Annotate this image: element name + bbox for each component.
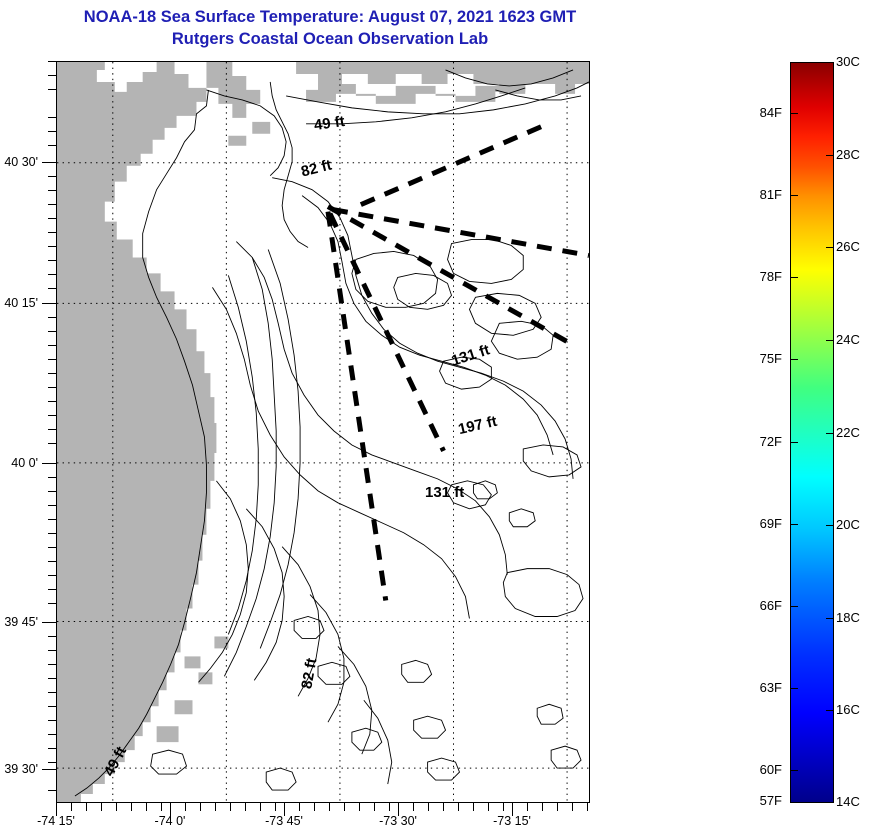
y-tick-text: 39 45' — [4, 615, 38, 629]
page-title: NOAA-18 Sea Surface Temperature: August … — [0, 6, 660, 50]
c-tick-text: 16C — [836, 702, 860, 717]
colorbar-c-label: 26C — [836, 239, 860, 254]
transect-s-east — [330, 214, 444, 451]
c-tick-text: 20C — [836, 517, 860, 532]
colorbar-f-label: 75F — [742, 351, 782, 366]
f-tick-text: 63F — [760, 680, 782, 695]
x-tick-label: -73 15' — [462, 814, 562, 828]
y-tick-label: 39 30' — [0, 762, 38, 776]
f-tick-text: 75F — [760, 351, 782, 366]
colorbar-f-label: 57F — [742, 793, 782, 808]
title-line-2: Rutgers Coastal Ocean Observation Lab — [0, 28, 660, 50]
f-tick-text: 69F — [760, 516, 782, 531]
y-tick-label: 40 15' — [0, 296, 38, 310]
y-tick-text: 40 0' — [11, 456, 38, 470]
x-tick-label: -74 15' — [6, 814, 106, 828]
colorbar-f-label: 63F — [742, 680, 782, 695]
x-tick-text: -74 0' — [155, 814, 186, 828]
f-tick-text: 57F — [760, 793, 782, 808]
y-tick-label: 40 0' — [0, 456, 38, 470]
map-plot-area[interactable]: 49 ft 82 ft 131 ft 197 ft 131 ft 82 ft 4… — [56, 61, 590, 803]
colorbar-f-label: 69F — [742, 516, 782, 531]
colorbar-c-label: 20C — [836, 517, 860, 532]
y-tick-text: 40 30' — [4, 155, 38, 169]
colorbar-f-label: 78F — [742, 269, 782, 284]
colorbar-c-label: 28C — [836, 147, 860, 162]
f-tick-text: 84F — [760, 105, 782, 120]
c-tick-text: 22C — [836, 425, 860, 440]
transect-ne-mid — [333, 210, 589, 256]
x-tick-label: -73 45' — [234, 814, 334, 828]
colorbar-c-label: 16C — [836, 702, 860, 717]
title-line-1: NOAA-18 Sea Surface Temperature: August … — [0, 6, 660, 28]
colorbar-f-label: 72F — [742, 434, 782, 449]
colorbar-f-label: 60F — [742, 762, 782, 777]
y-tick-text: 40 15' — [4, 296, 38, 310]
c-tick-text: 14C — [836, 794, 860, 809]
transect-se — [328, 207, 570, 344]
depth-label: 131 ft — [425, 484, 464, 501]
colorbar-c-label: 22C — [836, 425, 860, 440]
colorbar-f-label: 84F — [742, 105, 782, 120]
f-tick-text: 60F — [760, 762, 782, 777]
x-tick-label: -74 0' — [120, 814, 220, 828]
x-tick-text: -73 30' — [379, 814, 417, 828]
c-tick-text: 18C — [836, 610, 860, 625]
y-tick-label: 39 45' — [0, 615, 38, 629]
f-tick-text: 81F — [760, 187, 782, 202]
sst-map-page: NOAA-18 Sea Surface Temperature: August … — [0, 0, 872, 832]
colorbar-c-label: 14C — [836, 794, 860, 809]
colorbar-c-label: 18C — [836, 610, 860, 625]
c-tick-text: 26C — [836, 239, 860, 254]
x-tick-text: -74 15' — [37, 814, 75, 828]
colorbar-c-label: 24C — [836, 332, 860, 347]
c-tick-text: 28C — [836, 147, 860, 162]
y-tick-label: 40 30' — [0, 155, 38, 169]
x-tick-label: -73 30' — [348, 814, 448, 828]
colorbar-f-label: 66F — [742, 598, 782, 613]
x-tick-text: -73 15' — [493, 814, 531, 828]
transect-ne-upper — [361, 126, 543, 205]
f-tick-text: 72F — [760, 434, 782, 449]
temperature-colorbar[interactable]: 30C 28C 26C 24C 22C 20C 18C 16C 14C — [790, 62, 834, 803]
depth-label-text: 131 ft — [425, 484, 464, 501]
c-tick-text: 30C — [836, 54, 860, 69]
x-tick-text: -73 45' — [265, 814, 303, 828]
f-tick-text: 66F — [760, 598, 782, 613]
f-tick-text: 78F — [760, 269, 782, 284]
colorbar-f-label: 81F — [742, 187, 782, 202]
c-tick-text: 24C — [836, 332, 860, 347]
y-tick-text: 39 30' — [4, 762, 38, 776]
colorbar-c-label: 30C — [836, 54, 860, 69]
